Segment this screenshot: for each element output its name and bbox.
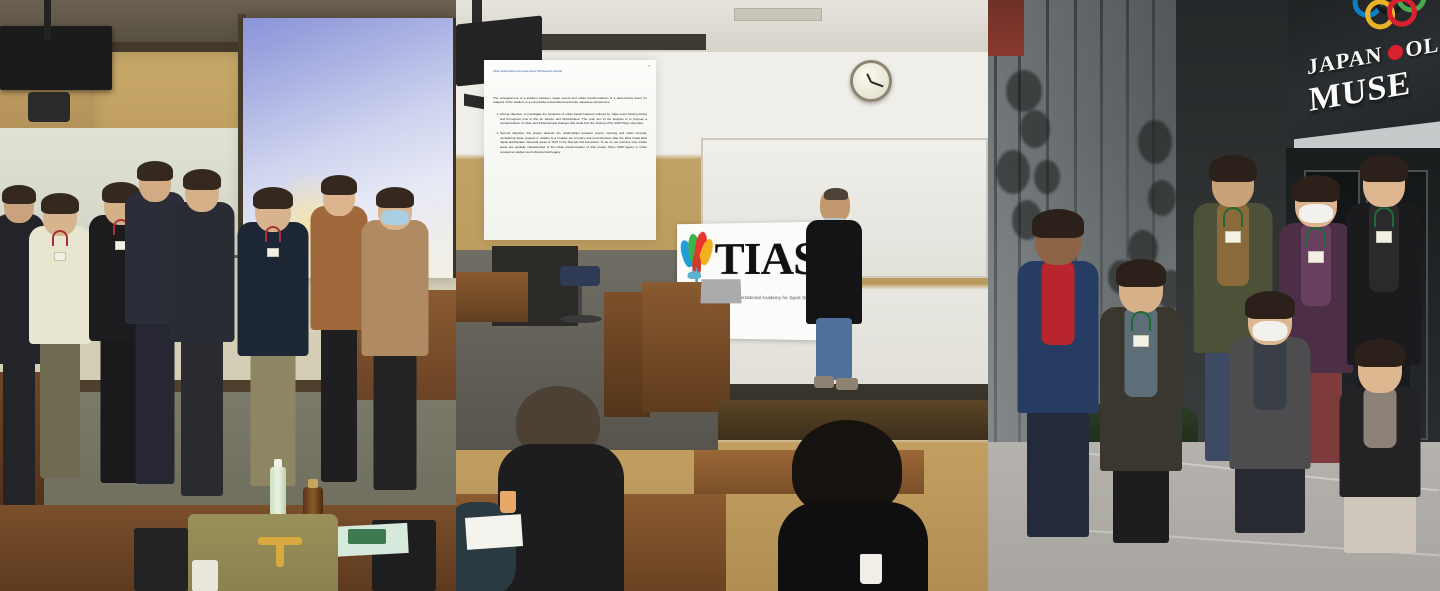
participant-hair <box>1032 209 1084 238</box>
participant-hair <box>376 187 414 208</box>
participant-hair <box>253 187 293 209</box>
reflected-tree-foliage <box>1020 110 1050 148</box>
participant-hair <box>1209 155 1257 182</box>
green-phone <box>348 529 386 544</box>
lanyard <box>52 230 68 246</box>
audience-cup <box>500 491 516 513</box>
reflected-tree-foliage <box>996 150 1030 194</box>
stool-leg <box>578 286 582 318</box>
participant-legs <box>251 348 296 486</box>
red-trim <box>988 0 1024 56</box>
slide-bullet: Second objective: the project dissects t… <box>500 131 647 154</box>
participant-legs <box>1235 463 1305 533</box>
participant-body <box>170 202 235 342</box>
reflected-tree-foliage <box>1034 160 1060 194</box>
participant-garment-accent <box>1364 387 1397 448</box>
presenter-jeans <box>816 318 852 380</box>
lanyard <box>1131 311 1151 331</box>
face-mask <box>1253 321 1288 341</box>
face-mask <box>381 210 409 225</box>
water-bottle <box>270 467 286 519</box>
participant-hair <box>1245 291 1295 319</box>
participant-legs <box>40 336 80 478</box>
bag-buckle <box>276 541 284 567</box>
audience-papers <box>465 514 523 550</box>
panel-conference-presentation: 5 Urban transformations and mega-events … <box>456 0 988 591</box>
participant <box>356 0 434 591</box>
participant-legs <box>374 348 417 490</box>
slide-page-number: 5 <box>649 65 650 68</box>
participant-legs <box>1113 467 1169 543</box>
lab-stool <box>560 266 600 286</box>
stool-base <box>560 315 602 323</box>
name-badge <box>1133 335 1149 347</box>
audience-cup-right <box>860 554 882 584</box>
projected-slide: 5 Urban transformations and mega-events … <box>484 60 656 240</box>
participant-hair <box>321 175 357 195</box>
signage-olympic-word: OL <box>1405 31 1440 62</box>
participant-legs <box>181 334 223 496</box>
participant-body <box>238 222 309 356</box>
presenter <box>804 188 866 390</box>
participant <box>1332 191 1428 591</box>
paper-cup <box>192 560 218 591</box>
participant-hair <box>1116 259 1166 287</box>
participant-legs <box>321 322 357 482</box>
panel-lecture-hall-group-photo: Group photo of eight participants standi… <box>0 0 456 591</box>
participant-body <box>362 220 429 356</box>
facade-mullion <box>994 0 997 470</box>
participant-legs <box>1027 409 1089 537</box>
participant-hair <box>41 193 79 214</box>
presenter-hair <box>824 188 848 200</box>
reflected-tree-foliage <box>1138 120 1172 164</box>
name-badge <box>54 252 66 261</box>
presenter-coat <box>806 220 862 324</box>
participant-garment-accent <box>1042 261 1075 345</box>
photo-collage: Group photo of eight participants standi… <box>0 0 1440 591</box>
slide-bullet-list: Aiming objective: to investigate the dyn… <box>500 112 647 154</box>
slide-paragraph: The entanglement of a stadium between me… <box>493 96 647 106</box>
audience-member-right-body <box>778 502 928 591</box>
wall-clock-icon <box>850 60 892 102</box>
side-desk <box>456 272 528 322</box>
participant-hair <box>1355 339 1405 367</box>
participant <box>164 0 240 591</box>
laptop <box>701 279 742 303</box>
ceiling-vent <box>734 8 822 21</box>
participant-legs <box>1344 491 1416 553</box>
panel-japan-olympic-museum-group-photo: JAPANOL MUSE Group of seven participants… <box>988 0 1440 591</box>
participant-hair <box>183 169 221 190</box>
slide-bullet: Aiming objective: to investigate the dyn… <box>500 112 647 126</box>
participant-hair <box>1360 155 1408 182</box>
slide-header: Urban transformations and mega-events TI… <box>493 70 647 74</box>
tias-wordmark: TIAS <box>715 235 819 282</box>
participant <box>1222 191 1318 591</box>
participant-garment-accent <box>1254 337 1287 410</box>
audience <box>456 376 988 591</box>
reflected-tree-foliage <box>1006 70 1042 112</box>
red-sun-dot-icon <box>1388 44 1404 62</box>
chair-left <box>134 528 188 591</box>
name-badge <box>267 248 279 257</box>
participant <box>1092 191 1190 591</box>
lanyard <box>265 226 281 242</box>
